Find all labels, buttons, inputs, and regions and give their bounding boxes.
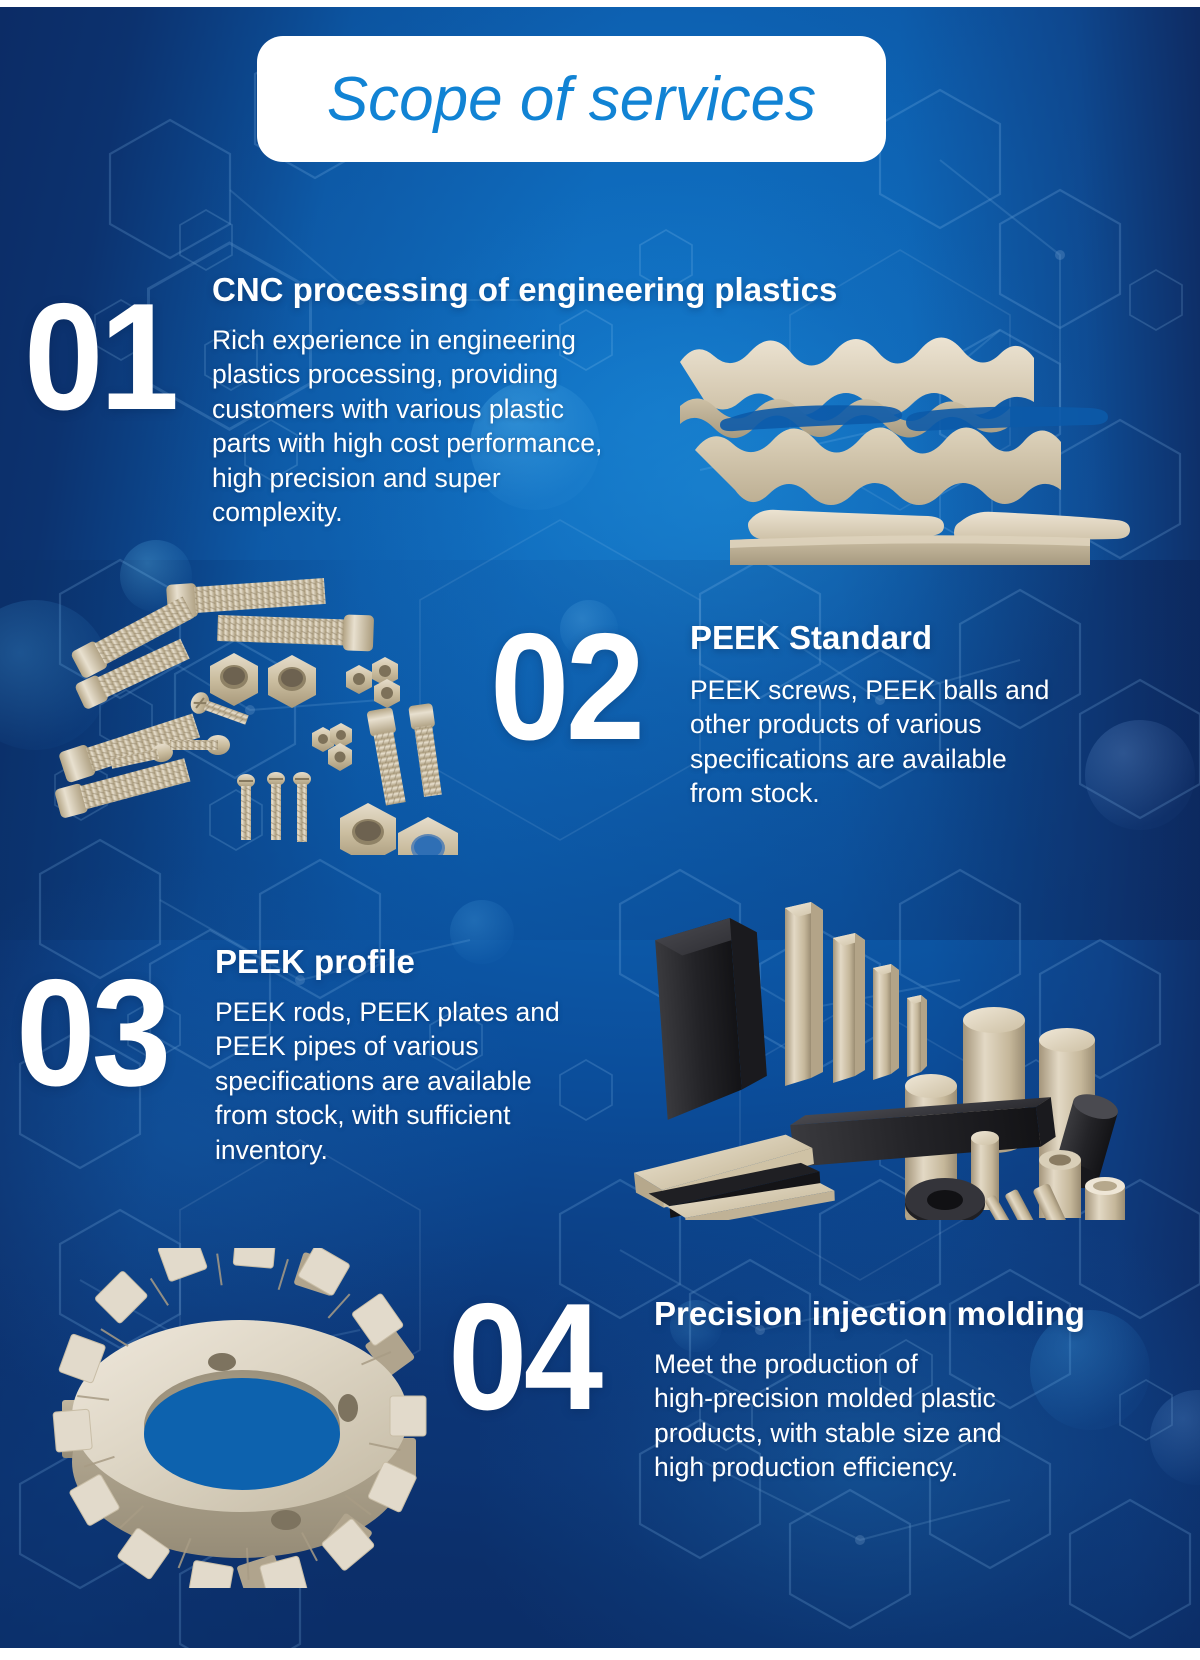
section-01-number: 01 [24,286,175,429]
section-01-body: Rich experience in engineering plastics … [212,323,682,530]
cnc-machined-peek-part-image [670,300,1140,565]
section-03-body: PEEK rods, PEEK plates and PEEK pipes of… [215,995,645,1167]
section-04-heading: Precision injection molding [654,1296,1124,1333]
section-02-heading: PEEK Standard [690,620,1120,657]
bottom-white-edge [0,1648,1200,1660]
section-02-body: PEEK screws, PEEK balls and other produc… [690,673,1120,811]
section-01-heading: CNC processing of engineering plastics [212,272,682,309]
section-04-body: Meet the production of high-precision mo… [654,1347,1124,1485]
section-03-text: PEEK profile PEEK rods, PEEK plates and … [215,944,645,1167]
section-04-number: 04 [448,1286,599,1429]
top-white-edge [0,0,1200,7]
peek-molded-gear-ring-image [40,1248,440,1588]
section-04-text: Precision injection molding Meet the pro… [654,1296,1124,1485]
section-02-text: PEEK Standard PEEK screws, PEEK balls an… [690,620,1120,811]
section-01-text: CNC processing of engineering plastics R… [212,272,682,530]
section-03-heading: PEEK profile [215,944,645,981]
section-03-number: 03 [16,962,167,1105]
peek-screws-and-nuts-image [40,545,470,855]
peek-rods-plates-tubes-image [615,890,1145,1220]
page-title: Scope of services [327,64,816,135]
title-card: Scope of services [257,36,886,162]
section-02-number: 02 [490,616,641,759]
poster-canvas: Scope of services 01 CNC pro [0,0,1200,1660]
